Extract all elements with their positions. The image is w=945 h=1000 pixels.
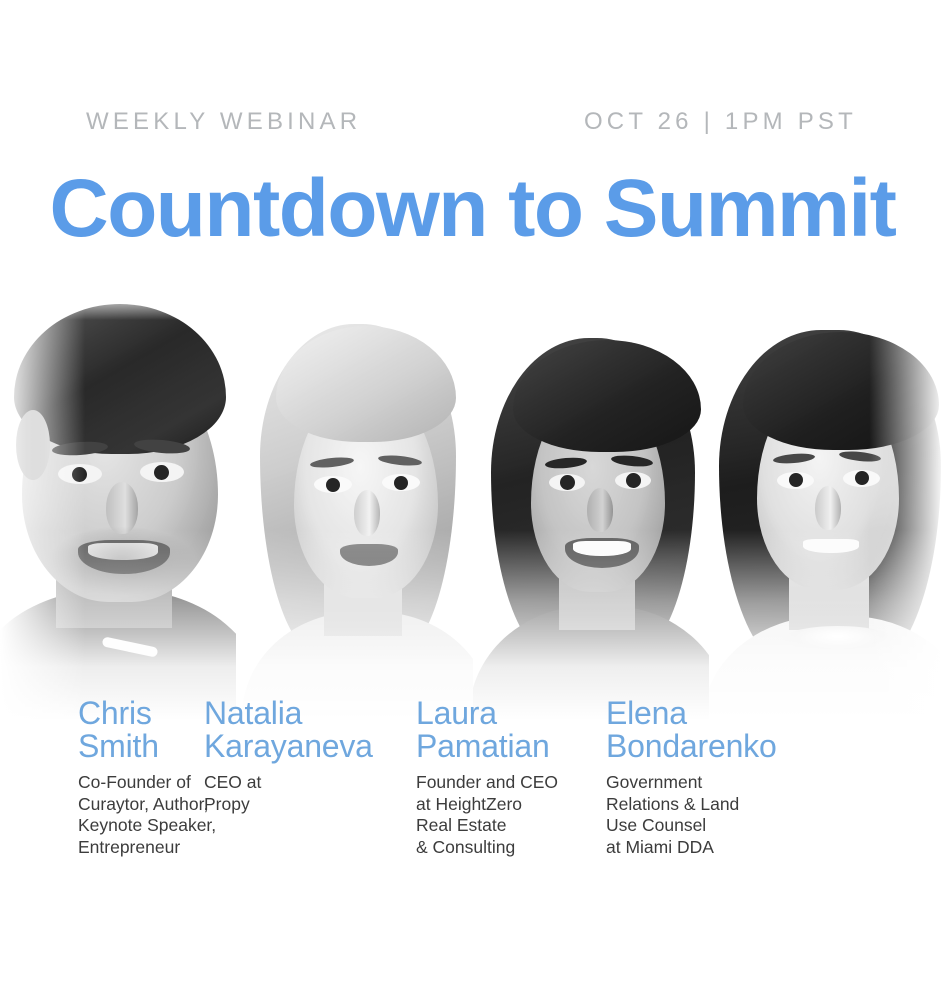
speaker-card-elena-bondarenko: Elena Bondarenko Government Relations & … — [594, 697, 799, 897]
portrait-chris-smith — [0, 290, 236, 720]
speaker-name: Natalia Karayaneva — [204, 697, 404, 763]
speaker-bio: Government Relations & Land Use Counsel … — [606, 772, 799, 858]
speaker-card-natalia-karayaneva: Natalia Karayaneva CEO at Propy — [192, 697, 404, 897]
eyebrow-weekly-webinar: WEEKLY WEBINAR — [86, 108, 361, 136]
speaker-card-laura-pamatian: Laura Pamatian Founder and CEO at Height… — [404, 697, 594, 897]
webinar-promo-poster: WEEKLY WEBINAR OCT 26 | 1PM PST Countdow… — [0, 0, 945, 1000]
eyebrow-date-time: OCT 26 | 1PM PST — [584, 108, 857, 136]
speaker-name: Laura Pamatian — [416, 697, 594, 763]
speaker-photo-strip — [0, 290, 945, 720]
speaker-bio: Co-Founder of Curaytor, Author, Keynote … — [78, 772, 192, 858]
portrait-laura-pamatian — [473, 290, 709, 720]
page-title: Countdown to Summit — [0, 168, 945, 250]
speaker-name: Elena Bondarenko — [606, 697, 799, 763]
speaker-card-chris-smith: Chris Smith Co-Founder of Curaytor, Auth… — [0, 697, 192, 897]
portrait-natalia-karayaneva — [236, 290, 472, 720]
speaker-bio: Founder and CEO at HeightZero Real Estat… — [416, 772, 594, 858]
speaker-name: Chris Smith — [78, 697, 192, 763]
portrait-elena-bondarenko — [709, 290, 945, 720]
speaker-list: Chris Smith Co-Founder of Curaytor, Auth… — [0, 697, 945, 897]
header-row: WEEKLY WEBINAR OCT 26 | 1PM PST — [0, 108, 945, 142]
speaker-bio: CEO at Propy — [204, 772, 404, 815]
